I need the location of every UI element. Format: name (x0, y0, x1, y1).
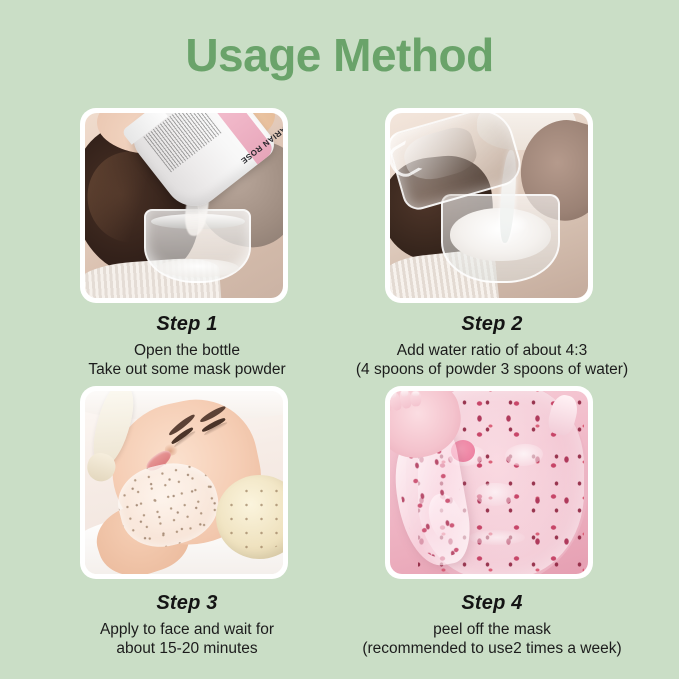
steps-row-2: Step 3 Apply to face and wait for about … (0, 386, 679, 664)
bottle-pouring-powder-into-bowl-photo: BULGARIAN ROSE (85, 113, 283, 298)
step-4-photo-frame (385, 386, 593, 579)
step-2-desc-line-2: (4 spoons of powder 3 spoons of water) (323, 360, 661, 379)
step-3-description: Apply to face and wait for about 15-20 m… (18, 620, 356, 658)
page-title: Usage Method (0, 32, 679, 78)
step-3-caption: Step 3 Apply to face and wait for about … (18, 591, 356, 658)
step-3-label: Step 3 (18, 591, 356, 616)
step-4-desc-line-2: (recommended to use2 times a week) (323, 639, 661, 658)
finger (410, 391, 421, 406)
step-4-desc-line-1: peel off the mask (323, 620, 661, 639)
step-2-photo-frame (385, 108, 593, 303)
step-card-4: Step 4 peel off the mask (recommended to… (337, 386, 647, 664)
step-3-desc-line-1: Apply to face and wait for (18, 620, 356, 639)
step-card-1: BULGARIAN ROSE Step 1 Open the bottle Ta… (32, 108, 342, 386)
steps-grid: BULGARIAN ROSE Step 1 Open the bottle Ta… (0, 108, 679, 664)
fingernail (400, 391, 409, 397)
step-card-3: Step 3 Apply to face and wait for about … (32, 386, 342, 664)
step-card-2: Step 2 Add water ratio of about 4:3 (4 s… (337, 108, 647, 386)
step-1-photo-frame: BULGARIAN ROSE (80, 108, 288, 303)
step-1-desc-line-2: Take out some mask powder (18, 360, 356, 379)
fingernail (411, 391, 419, 397)
steps-row-1: BULGARIAN ROSE Step 1 Open the bottle Ta… (0, 108, 679, 386)
step-4-description: peel off the mask (recommended to use2 t… (323, 620, 661, 658)
step-2-caption: Step 2 Add water ratio of about 4:3 (4 s… (323, 312, 661, 379)
step-3-desc-line-2: about 15-20 minutes (18, 639, 356, 658)
applying-mask-to-face-photo (85, 391, 283, 574)
step-1-description: Open the bottle Take out some mask powde… (18, 341, 356, 379)
mask-mouth-opening (469, 530, 524, 545)
step-4-label: Step 4 (323, 591, 661, 616)
step-3-photo-frame (80, 386, 288, 579)
step-1-label: Step 1 (18, 312, 356, 337)
step-4-caption: Step 4 peel off the mask (recommended to… (323, 591, 661, 658)
step-1-caption: Step 1 Open the bottle Take out some mas… (18, 312, 356, 379)
step-1-desc-line-1: Open the bottle (18, 341, 356, 360)
step-2-description: Add water ratio of about 4:3 (4 spoons o… (323, 341, 661, 379)
step-2-label: Step 2 (323, 312, 661, 337)
pitcher-pouring-water-into-powder-bowl-photo (390, 113, 588, 298)
peeling-off-rose-petal-mask-photo (390, 391, 588, 574)
fingernail (390, 391, 397, 399)
step-2-desc-line-1: Add water ratio of about 4:3 (323, 341, 661, 360)
